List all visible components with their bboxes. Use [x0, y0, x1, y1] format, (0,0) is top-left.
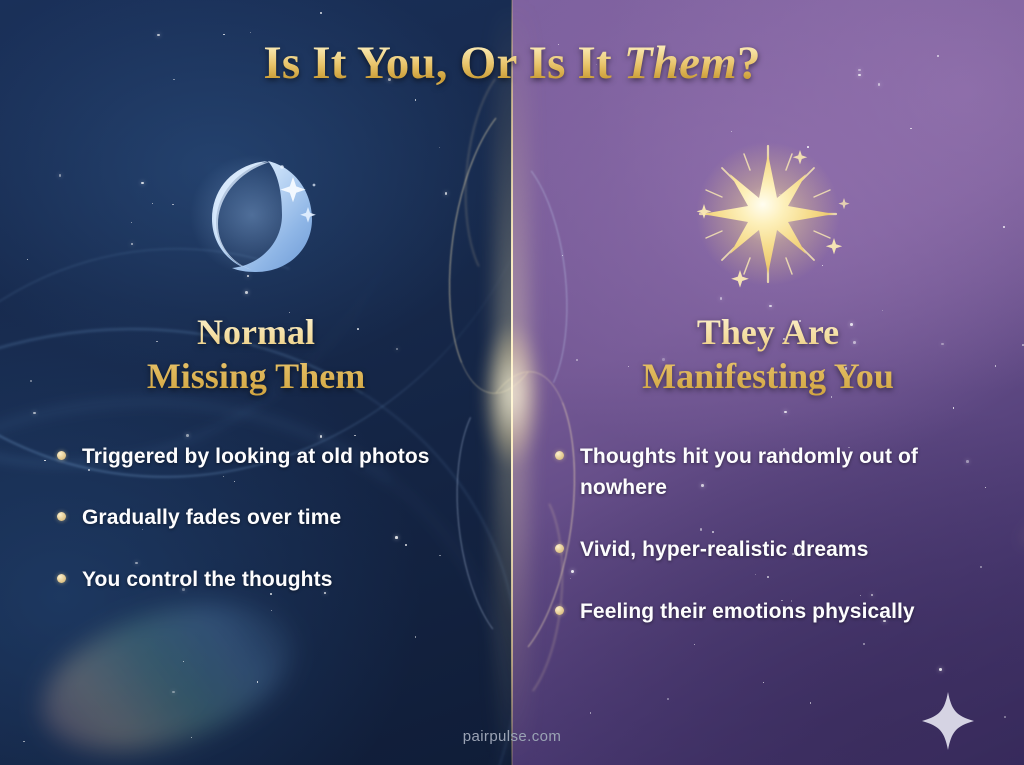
list-item: Triggered by looking at old photos: [82, 441, 482, 473]
bullet-dot-icon: [555, 544, 564, 553]
crescent-moon-icon: [190, 153, 322, 277]
moon-icon-slot: [0, 140, 512, 290]
bullet-text: Feeling their emotions physically: [580, 600, 915, 623]
page-title: Is It You, Or Is It Them?: [0, 36, 1024, 90]
bullet-text: Thoughts hit you randomly out of nowhere: [580, 445, 918, 500]
bullet-list-left: Triggered by looking at old photos Gradu…: [0, 441, 512, 597]
column-manifesting-you: They Are Manifesting You Thoughts hit yo…: [512, 140, 1024, 658]
bullet-text: Triggered by looking at old photos: [82, 445, 430, 468]
infographic-canvas: Is It You, Or Is It Them?: [0, 0, 1024, 765]
heading-line-2: Manifesting You: [642, 356, 894, 396]
title-emphasis: Them: [624, 37, 737, 89]
list-item: Feeling their emotions physically: [580, 596, 1000, 628]
bullet-list-right: Thoughts hit you randomly out of nowhere…: [512, 441, 1024, 629]
heading-line-2: Missing Them: [147, 356, 365, 396]
watermark: pairpulse.com: [0, 728, 1024, 745]
title-part-1: Is It You, Or Is It: [263, 37, 624, 89]
sparkle-star-icon: [678, 140, 858, 290]
bullet-dot-icon: [57, 574, 66, 583]
bullet-dot-icon: [555, 451, 564, 460]
list-item: Thoughts hit you randomly out of nowhere: [580, 441, 1000, 505]
title-part-2: ?: [737, 37, 761, 89]
heading-line-1: They Are: [697, 312, 839, 352]
column-heading-right: They Are Manifesting You: [512, 310, 1024, 399]
star-sparkle: [838, 198, 849, 209]
column-heading-left: Normal Missing Them: [0, 310, 512, 399]
list-item: Vivid, hyper-realistic dreams: [580, 534, 1000, 566]
bullet-text: Vivid, hyper-realistic dreams: [580, 538, 868, 561]
bullet-dot-icon: [57, 512, 66, 521]
heading-line-1: Normal: [197, 312, 315, 352]
list-item: Gradually fades over time: [82, 502, 482, 534]
bullet-dot-icon: [57, 451, 66, 460]
bullet-text: Gradually fades over time: [82, 506, 341, 529]
bullet-dot-icon: [555, 606, 564, 615]
column-normal-missing: Normal Missing Them Triggered by looking…: [0, 140, 512, 626]
list-item: You control the thoughts: [82, 564, 482, 596]
star-icon-slot: [512, 140, 1024, 290]
bullet-text: You control the thoughts: [82, 568, 332, 591]
